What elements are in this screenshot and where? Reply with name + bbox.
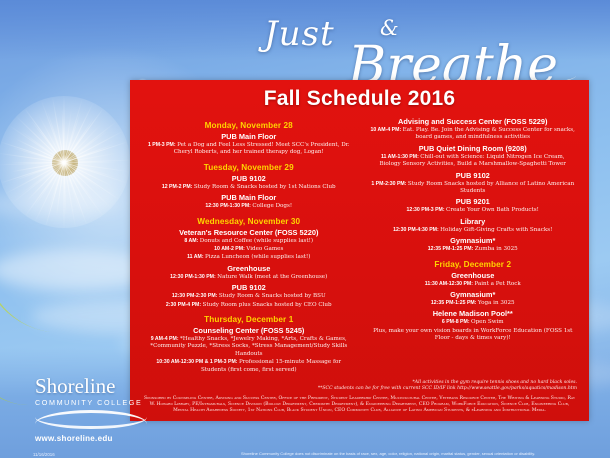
schedule-event-time: 10:30 AM-12:30 PM & 1 PM-3 PM: xyxy=(156,359,239,365)
schedule-event-time: 6 PM-8 PM: xyxy=(442,319,471,325)
schedule-event-description: Create Your Own Bath Products! xyxy=(446,207,539,213)
schedule-event-time: 1 PM-2:30 PM: xyxy=(371,181,408,187)
schedule-event-description: Donuts and Coffee (while supplies last!) xyxy=(200,238,313,244)
schedule-event: 1 PM-2:30 PM: Study Room Snacks hosted b… xyxy=(370,181,577,196)
schedule-event: 8 AM: Donuts and Coffee (while supplies … xyxy=(143,238,355,245)
schedule-day-heading: Tuesday, November 29 xyxy=(143,163,355,172)
schedule-event-time: 12:35 PM-1:25 PM: xyxy=(431,300,478,306)
logo-name: Shoreline xyxy=(35,376,160,397)
website-url[interactable]: www.shoreline.edu xyxy=(35,434,113,443)
schedule-event-time: 9 AM-4 PM: xyxy=(151,336,180,342)
schedule-event: 11 AM: Pizza Luncheon (while supplies la… xyxy=(143,254,355,261)
schedule-event-description: *Healthy Snacks, *Jewelry Making, *Arts,… xyxy=(150,336,347,357)
schedule-event-time: 11 AM-1:30 PM: xyxy=(381,154,420,160)
schedule-venue: PUB Quiet Dining Room (9208) xyxy=(370,144,577,153)
eeo-statement: Shoreline Community College does not dis… xyxy=(178,451,598,457)
schedule-venue: Gymnasium* xyxy=(370,236,577,245)
schedule-venue: Helene Madison Pool** xyxy=(370,309,577,318)
schedule-event-description: Holiday Gift-Giving Crafts with Snacks! xyxy=(440,227,552,233)
schedule-day-heading: Thursday, December 1 xyxy=(143,315,355,324)
schedule-event-description: Open Swim xyxy=(471,319,504,325)
schedule-event-description: Pizza Luncheon (while supplies last!) xyxy=(205,254,310,260)
schedule-event: 10 AM-2 PM: Video Games xyxy=(143,246,355,253)
shoreline-logo: Shoreline COMMUNITY COLLEGE xyxy=(35,376,160,429)
schedule-event-time: 12 PM-2 PM: xyxy=(162,184,194,190)
schedule-event: 10:30 AM-12:30 PM & 1 PM-3 PM: Professio… xyxy=(143,359,355,374)
schedule-event: 6 PM-8 PM: Open Swim xyxy=(370,319,577,326)
schedule-event: Plus, make your own vision boards in Wor… xyxy=(370,328,577,343)
schedule-event-description: Study Room plus Snacks hosted by CEO Clu… xyxy=(203,302,332,308)
schedule-event: 12:35 PM-1:25 PM: Zumba in 3025 xyxy=(370,246,577,253)
schedule-event-description: Eat. Play. Be. Join the Advising & Succe… xyxy=(403,127,575,140)
schedule-venue: Greenhouse xyxy=(370,271,577,280)
schedule-event-time: 1 PM-3 PM: xyxy=(148,142,177,148)
schedule-event-time: 10 AM-4 PM: xyxy=(371,127,403,133)
schedule-day-heading: Friday, December 2 xyxy=(370,260,577,269)
schedule-event: 12:30 PM-2:30 PM: Study Room & Snacks ho… xyxy=(143,293,355,300)
schedule-event-time: 11 AM: xyxy=(187,254,205,260)
schedule-event-description: Study Room Snacks hosted by Alliance of … xyxy=(408,181,574,194)
schedule-venue: Gymnasium* xyxy=(370,290,577,299)
schedule-venue: Advising and Success Center (FOSS 5229) xyxy=(370,117,577,126)
footnotes: *All activities in the gym require tenni… xyxy=(130,374,589,392)
schedule-event-description: Paint a Pet Rock xyxy=(474,281,520,287)
schedule-panel: Fall Schedule 2016 Monday, November 28PU… xyxy=(130,80,589,421)
schedule-venue: PUB Main Floor xyxy=(143,132,355,141)
schedule-event-time: 12:30 PM-1:30 PM: xyxy=(205,203,252,209)
document-code: 11/16/2016 xyxy=(33,452,55,457)
schedule-day-heading: Wednesday, November 30 xyxy=(143,217,355,226)
schedule-venue: PUB 9201 xyxy=(370,197,577,206)
schedule-event-time: 12:30 PM-2:30 PM: xyxy=(172,293,219,299)
schedule-event: 2:30 PM-4 PM: Study Room plus Snacks hos… xyxy=(143,302,355,309)
schedule-columns: Monday, November 28PUB Main Floor1 PM-3 … xyxy=(130,111,589,374)
schedule-event: 12:30 PM-1:30 PM: Nature Walk (meet at t… xyxy=(143,274,355,281)
schedule-event: 12:35 PM-1:25 PM: Yoga in 3025 xyxy=(370,300,577,307)
schedule-event: 11:30 AM-12:30 PM: Paint a Pet Rock xyxy=(370,281,577,288)
schedule-venue: PUB 9102 xyxy=(143,174,355,183)
panel-title: Fall Schedule 2016 xyxy=(130,80,589,111)
schedule-event-time: 12:30 PM-4:30 PM: xyxy=(393,227,440,233)
logo-subtitle: COMMUNITY COLLEGE xyxy=(35,398,160,407)
sky-top-gradient xyxy=(0,0,610,60)
schedule-event-time: 12:30 PM-3 PM: xyxy=(407,207,447,213)
schedule-event-time: 10 AM-2 PM: xyxy=(214,246,246,252)
schedule-event-description: Study Room & Snacks hosted by 1st Nation… xyxy=(194,184,336,190)
schedule-event: 12:30 PM-1:30 PM: College Dogs! xyxy=(143,203,355,210)
logo-wave-icon xyxy=(35,417,147,429)
schedule-event-description: Video Games xyxy=(246,246,283,252)
poster: Just & Breathe Fall Schedule 2016 Monday… xyxy=(0,0,610,471)
schedule-event: 9 AM-4 PM: *Healthy Snacks, *Jewelry Mak… xyxy=(143,336,355,358)
schedule-venue: Greenhouse xyxy=(143,264,355,273)
schedule-column-left: Monday, November 28PUB Main Floor1 PM-3 … xyxy=(138,115,360,374)
bottom-white-strip xyxy=(0,458,610,471)
schedule-event-time: 8 AM: xyxy=(184,238,199,244)
schedule-venue: PUB 9102 xyxy=(143,283,355,292)
schedule-event-time: 12:35 PM-1:25 PM: xyxy=(428,246,475,252)
schedule-column-right: Advising and Success Center (FOSS 5229)1… xyxy=(360,115,582,374)
schedule-event-description: Nature Walk (meet at the Greenhouse) xyxy=(217,274,327,280)
schedule-event-description: Pet a Dog and Feel Less Stressed! Meet S… xyxy=(174,142,350,155)
schedule-event-description: Plus, make your own vision boards in Wor… xyxy=(373,328,572,341)
schedule-venue: PUB Main Floor xyxy=(143,193,355,202)
schedule-event: 12 PM-2 PM: Study Room & Snacks hosted b… xyxy=(143,184,355,191)
schedule-event-time: 12:30 PM-1:30 PM: xyxy=(170,274,217,280)
schedule-venue: PUB 9102 xyxy=(370,171,577,180)
schedule-venue: Counseling Center (FOSS 5245) xyxy=(143,326,355,335)
schedule-event-time: 2:30 PM-4 PM: xyxy=(166,302,203,308)
schedule-venue: Veteran's Resource Center (FOSS 5220) xyxy=(143,228,355,237)
sponsors-text: Sponsored by Counseling Center, Advising… xyxy=(130,392,589,419)
schedule-event: 12:30 PM-3 PM: Create Your Own Bath Prod… xyxy=(370,207,577,214)
schedule-event-description: Study Room & Snacks hosted by BSU xyxy=(219,293,326,299)
schedule-event-description: College Dogs! xyxy=(252,203,292,209)
schedule-event-description: Zumba in 3025 xyxy=(475,246,518,252)
schedule-day-heading: Monday, November 28 xyxy=(143,121,355,130)
schedule-event-description: Yoga in 3025 xyxy=(478,300,515,306)
schedule-event: 1 PM-3 PM: Pet a Dog and Feel Less Stres… xyxy=(143,142,355,157)
schedule-event: 11 AM-1:30 PM: Chill-out with Science: L… xyxy=(370,154,577,169)
schedule-venue: Library xyxy=(370,217,577,226)
schedule-event-time: 11:30 AM-12:30 PM: xyxy=(425,281,475,287)
schedule-event: 10 AM-4 PM: Eat. Play. Be. Join the Advi… xyxy=(370,127,577,142)
schedule-event: 12:30 PM-4:30 PM: Holiday Gift-Giving Cr… xyxy=(370,227,577,234)
